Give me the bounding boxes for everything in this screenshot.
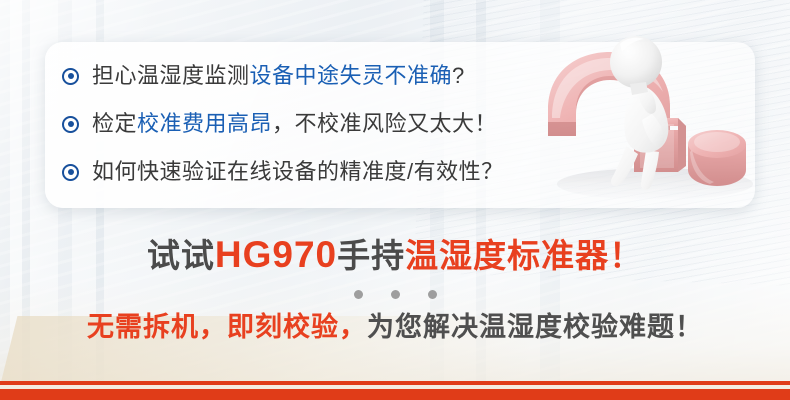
bullet-text: 如何快速验证在线设备的精准度/有效性？	[92, 161, 504, 183]
subline: 无需拆机，即刻校验，为您解决温湿度校验难题！	[0, 314, 790, 341]
radio-bullet-icon	[62, 164, 79, 181]
headline-part-1: 试试	[147, 237, 215, 274]
headline-model-name: HG970	[215, 234, 337, 275]
list-item: 检定校准费用高昂，不校准风险又太大！	[62, 100, 582, 148]
list-item: 担心温湿度监测设备中途失灵不准确?	[62, 52, 582, 100]
subline-red-part: 无需拆机，即刻校验，	[87, 312, 367, 342]
dot-separator	[0, 290, 790, 299]
radio-bullet-icon	[62, 116, 79, 133]
separator-dot	[428, 290, 437, 299]
bullet-segment: ?	[452, 63, 465, 88]
bullet-segment-highlight: 设备中途失灵不准确	[250, 63, 453, 88]
headline-part-2: 手持	[337, 237, 405, 274]
radio-bullet-icon	[62, 68, 79, 85]
bullet-segment: 如何快速验证在线设备的精准度/有效性？	[92, 159, 504, 184]
promo-banner: 担心温湿度监测设备中途失灵不准确? 检定校准费用高昂，不校准风险又太大！ 如何快…	[0, 0, 790, 400]
bullet-segment: 担心温湿度监测	[92, 63, 250, 88]
bullet-text: 检定校准费用高昂，不校准风险又太大！	[92, 113, 497, 135]
headline-part-3: 温湿度标准器！	[405, 237, 643, 274]
question-mark-dot	[688, 130, 746, 186]
separator-dot	[391, 290, 400, 299]
separator-dot	[354, 290, 363, 299]
pain-points-list: 担心温湿度监测设备中途失灵不准确? 检定校准费用高昂，不校准风险又太大！ 如何快…	[62, 52, 582, 196]
list-item: 如何快速验证在线设备的精准度/有效性？	[62, 148, 582, 196]
subline-dark-part: 为您解决温湿度校验难题！	[367, 312, 703, 342]
bullet-text: 担心温湿度监测设备中途失灵不准确?	[92, 65, 465, 87]
bullet-segment-highlight: 校准费用高昂	[137, 111, 272, 136]
bullet-segment: ，不校准风险又太大！	[272, 111, 497, 136]
footer-stripe-thick	[0, 389, 790, 400]
bullet-segment: 检定	[92, 111, 137, 136]
headline: 试试HG970手持温湿度标准器！	[0, 236, 790, 273]
